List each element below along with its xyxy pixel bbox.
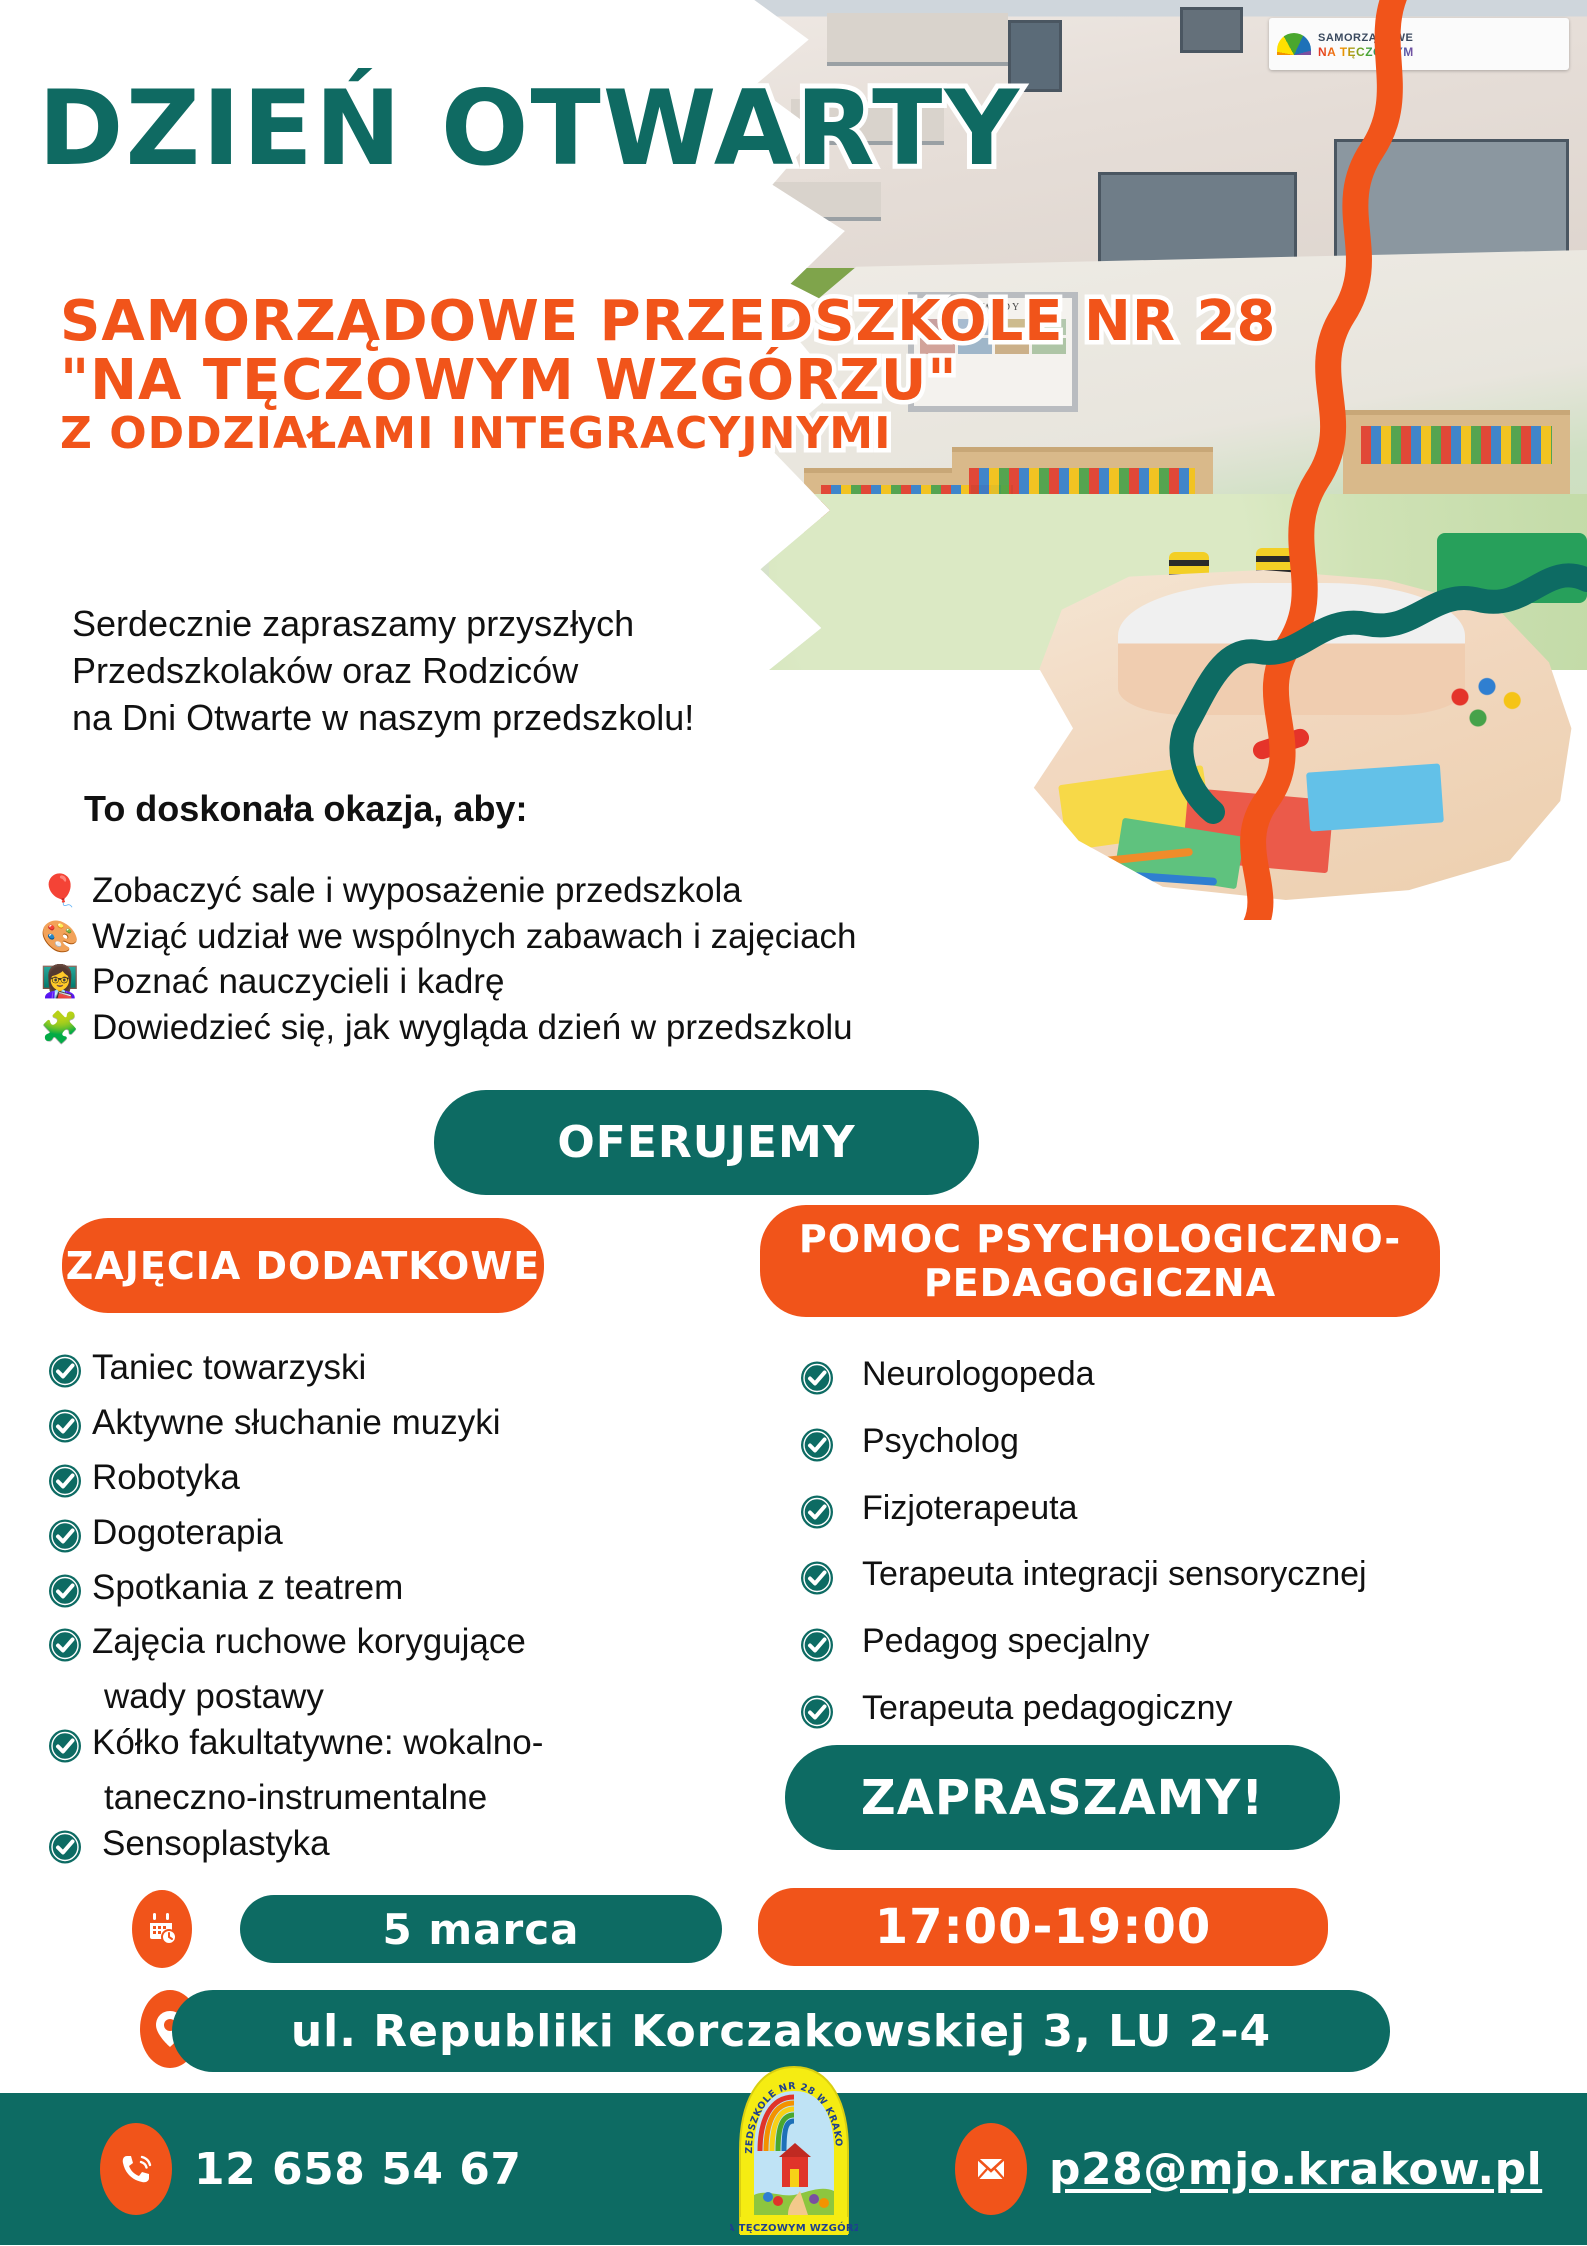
psych-title-line-1: POMOC PSYCHOLOGICZNO- [799,1217,1401,1261]
teacher-icon: 👩‍🏫 [40,966,80,997]
check-circle-icon [800,1695,834,1738]
list-item: 🎨 Wziąć udział we wspólnych zabawach i z… [40,914,857,960]
check-circle-icon [48,1628,82,1671]
list-item: Robotyka [48,1458,718,1507]
envelope-icon [955,2123,1027,2215]
list-item: 👩‍🏫 Poznać nauczycieli i kadrę [40,959,857,1005]
building-banner: SAMORZĄDOWE NA TĘCZOWYM [1269,18,1569,70]
service-label: Fizjoterapeuta [862,1489,1077,1528]
check-circle-icon [48,1464,82,1507]
subtitle-line-2: "NA TĘCZOWYM WZGÓRZU" [60,351,1276,410]
intro-line-2: Przedszkolaków oraz Rodziców [72,647,694,694]
photo-crafts-activity [1017,570,1577,900]
scissors-icon [1251,726,1312,761]
check-circle-icon [800,1361,834,1404]
page-title: DZIEŃ OTWARTY [38,78,1021,181]
banner-line2: NA TĘCZOWYM [1318,45,1414,59]
intro-line-1: Serdecznie zapraszamy przyszłych [72,600,694,647]
check-circle-icon [48,1729,82,1772]
list-item: Psycholog [800,1422,1560,1471]
event-date-pill: 5 marca [240,1895,722,1963]
reason-text: Wziąć udział we wspólnych zabawach i zaj… [92,914,857,960]
activity-label: Robotyka [92,1458,240,1498]
child-hands [1118,583,1465,715]
puzzle-piece-icon: 🧩 [40,1012,80,1043]
activity-label-continued: taneczno-instrumentalne [48,1778,718,1818]
reasons-list: 🎈 Zobaczyć sale i wyposażenie przedszkol… [40,868,857,1050]
reason-text: Dowiedzieć się, jak wygląda dzień w prze… [92,1005,853,1051]
phone-number: 12 658 54 67 [194,2144,522,2195]
phone-icon [100,2123,172,2215]
list-item: Aktywne słuchanie muzyki [48,1403,718,1452]
service-label: Neurologopeda [862,1355,1095,1394]
intro-line-3: na Dni Otwarte w naszym przedszkolu! [72,694,694,741]
check-circle-icon [48,1409,82,1452]
service-label: Pedagog specjalny [862,1622,1149,1661]
list-item: 🧩 Dowiedzieć się, jak wygląda dzień w pr… [40,1005,857,1051]
list-item: 🎈 Zobaczyć sale i wyposażenie przedszkol… [40,868,857,914]
invite-badge: ZAPRASZAMY! [785,1745,1340,1850]
check-circle-icon [48,1830,82,1873]
service-label: Terapeuta pedagogiczny [862,1689,1233,1728]
psych-help-header: POMOC PSYCHOLOGICZNO- PEDAGOGICZNA [760,1205,1440,1317]
activity-label: Kółko fakultatywne: wokalno- [92,1723,543,1763]
phone-contact[interactable]: 12 658 54 67 [100,2123,522,2215]
calendar-icon [132,1890,192,1968]
subtitle-line-3: Z ODDZIAŁAMI INTEGRACYJNYMI [60,411,1276,458]
activity-label: Dogoterapia [92,1513,283,1553]
classroom-table [1437,533,1587,603]
activity-label: Aktywne słuchanie muzyki [92,1403,501,1443]
list-item: Terapeuta pedagogiczny [800,1689,1560,1738]
banner-line1: SAMORZĄDOWE [1318,32,1413,44]
check-circle-icon [48,1574,82,1617]
psych-title-line-2: PEDAGOGICZNA [924,1261,1276,1305]
activity-label-continued: wady postawy [48,1677,718,1717]
artist-palette-icon: 🎨 [40,921,80,952]
list-item: Zajęcia ruchowe korygujące [48,1622,718,1671]
bead-maze-toy [1442,669,1532,739]
reason-text: Zobaczyć sale i wyposażenie przedszkola [92,868,742,914]
check-circle-icon [48,1354,82,1397]
event-address-pill: ul. Republiki Korczakowskiej 3, LU 2-4 [172,1990,1390,2072]
check-circle-icon [48,1519,82,1562]
intro-paragraph: Serdecznie zapraszamy przyszłych Przedsz… [72,600,694,741]
service-label: Terapeuta integracji sensorycznej [862,1555,1367,1594]
balloon-icon: 🎈 [40,875,80,906]
activity-label: Sensoplastyka [92,1824,330,1864]
check-circle-icon [800,1428,834,1471]
subtitle-block: SAMORZĄDOWE PRZEDSZKOLE NR 28 "NA TĘCZOW… [60,292,1276,457]
list-item: Fizjoterapeuta [800,1489,1560,1538]
list-item: Neurologopeda [800,1355,1560,1404]
list-item: Terapeuta integracji sensorycznej [800,1555,1560,1604]
kindergarten-logo: PRZEDSZKOLE NR 28 W KRAKOWIE NA TĘCZOWYM… [730,2065,858,2241]
extra-activities-list: Taniec towarzyski Aktywne słuchanie muzy… [48,1348,718,1879]
check-circle-icon [800,1628,834,1671]
activity-label: Taniec towarzyski [92,1348,366,1388]
activity-label: Spotkania z teatrem [92,1568,403,1608]
email-address[interactable]: p28@mjo.krakow.pl [1049,2144,1542,2195]
list-item: Spotkania z teatrem [48,1568,718,1617]
check-circle-icon [800,1495,834,1538]
list-item: Taniec towarzyski [48,1348,718,1397]
rainbow-logo-icon [1277,33,1311,55]
email-contact[interactable]: p28@mjo.krakow.pl [955,2123,1542,2215]
occasion-lead-in: To doskonała okazja, aby: [84,788,527,830]
list-item: Sensoplastyka [48,1824,718,1873]
subtitle-line-1: SAMORZĄDOWE PRZEDSZKOLE NR 28 [60,292,1276,351]
list-item: Kółko fakultatywne: wokalno- [48,1723,718,1772]
event-time-pill: 17:00-19:00 [758,1888,1328,1966]
extra-activities-header: ZAJĘCIA DODATKOWE [62,1218,544,1313]
list-item: Dogoterapia [48,1513,718,1562]
psych-help-list: Neurologopeda Psycholog Fizjoterapeuta T… [800,1355,1560,1756]
reason-text: Poznać nauczycieli i kadrę [92,959,504,1005]
offer-badge: OFERUJEMY [434,1090,979,1195]
list-item: Pedagog specjalny [800,1622,1560,1671]
check-circle-icon [800,1561,834,1604]
service-label: Psycholog [862,1422,1019,1461]
logo-bottom-text: NA TĘCZOWYM WZGÓRZU [730,2221,858,2234]
activity-label: Zajęcia ruchowe korygujące [92,1622,526,1662]
